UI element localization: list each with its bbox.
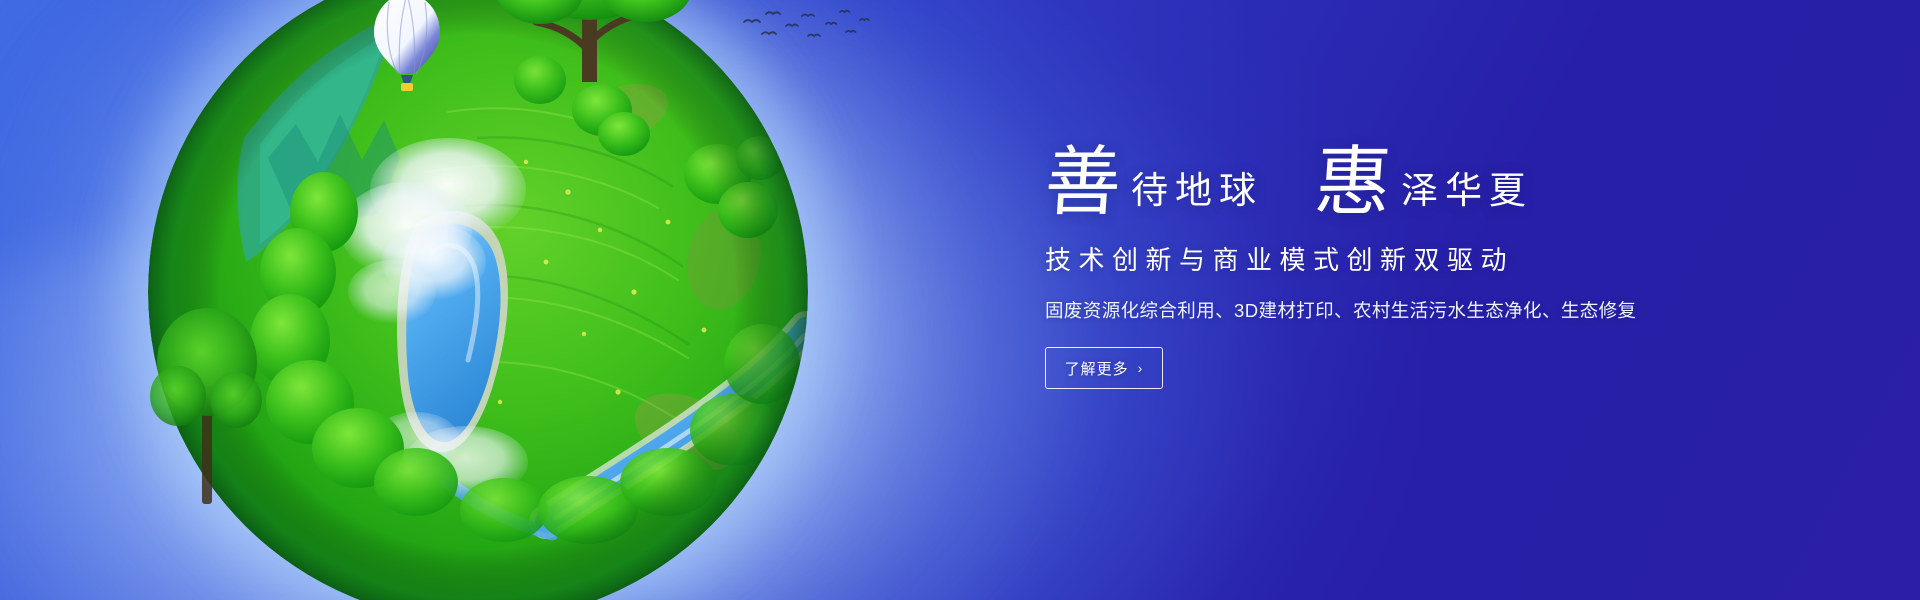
planet-illustration xyxy=(148,0,808,600)
headline-part2-rest: 泽华夏 xyxy=(1391,172,1533,218)
learn-more-button[interactable]: 了解更多 › xyxy=(1045,347,1163,389)
headline-part1-rest: 待地球 xyxy=(1121,172,1263,218)
headline-part1-large: 善 xyxy=(1042,146,1123,218)
headline: 善 待地球 惠 泽华夏 xyxy=(1045,126,1745,218)
learn-more-label: 了解更多 xyxy=(1065,358,1129,379)
hero-content: 善 待地球 惠 泽华夏 技术创新与商业模式创新双驱动 固废资源化综合利用、3D建… xyxy=(1045,126,1745,389)
tiny-planet-graphic xyxy=(148,0,808,600)
headline-part2-large: 惠 xyxy=(1312,146,1393,218)
subtitle: 技术创新与商业模式创新双驱动 xyxy=(1045,240,1745,277)
hero-banner: 善 待地球 惠 泽华夏 技术创新与商业模式创新双驱动 固废资源化综合利用、3D建… xyxy=(0,0,1920,600)
chevron-right-icon: › xyxy=(1138,360,1144,376)
planet-sphere xyxy=(148,0,808,600)
description: 固废资源化综合利用、3D建材打印、农村生活污水生态净化、生态修复 xyxy=(1045,297,1745,323)
